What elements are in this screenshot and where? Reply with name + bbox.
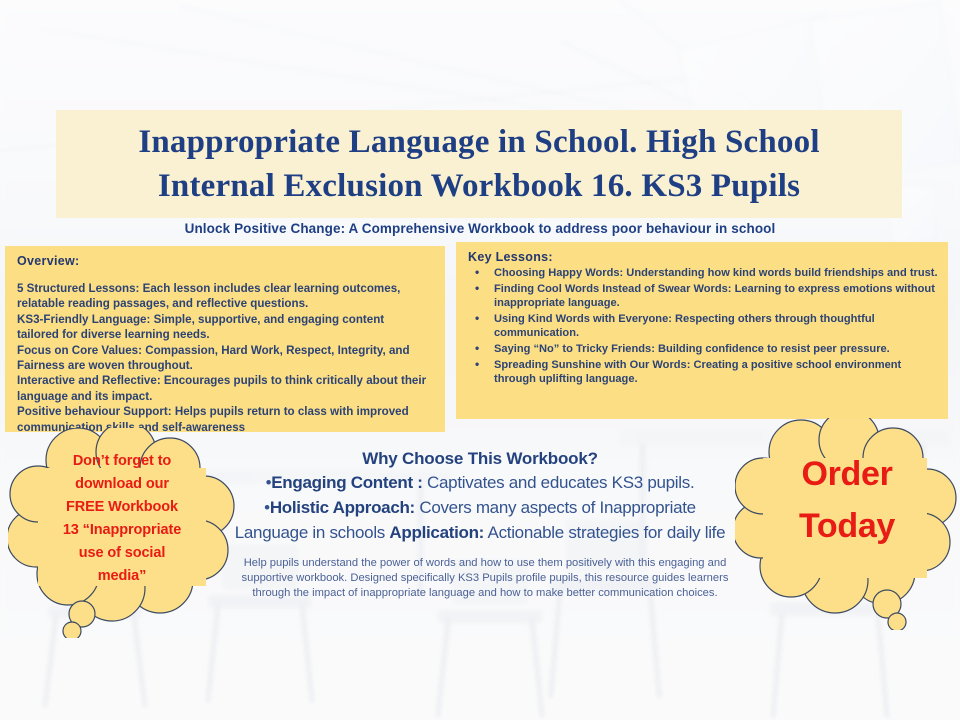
key-lessons-list: • Choosing Happy Words: Understanding ho… (468, 266, 938, 387)
page-title-line-1: Inappropriate Language in School. High S… (138, 120, 819, 164)
promo-line-label: Engaging Content : (271, 473, 422, 492)
list-item: • Saying “No” to Tricky Friends: Buildin… (468, 342, 938, 357)
list-item-label: Choosing Happy Words: Understanding how … (494, 267, 938, 279)
bubble-line: Order (759, 448, 935, 500)
overview-panel: Overview: 5 Structured Lessons: Each les… (5, 246, 445, 432)
list-item: • Finding Cool Words Instead of Swear Wo… (468, 282, 938, 311)
bubble-line: media” (34, 565, 210, 588)
overview-line: tailored for diverse learning needs. (17, 327, 435, 342)
promo-line-text: Captivates and educates KS3 pupils. (423, 473, 695, 492)
overview-line: Interactive and Reflective: Encourages p… (17, 373, 435, 388)
promo-line-text: Language in schools (235, 523, 390, 542)
promo-heading: Why Choose This Workbook? (150, 448, 810, 470)
promo-line-text: Actionable strategies for daily life (484, 523, 725, 542)
promo-line-text: Covers many aspects of Inappropriate (415, 498, 696, 517)
bullet-icon: • (475, 265, 479, 280)
bubble-line: Don’t forget to (34, 450, 210, 473)
overview-heading: Overview: (17, 254, 435, 268)
overview-list: 5 Structured Lessons: Each lesson includ… (17, 281, 435, 435)
title-banner: Inappropriate Language in School. High S… (56, 110, 902, 218)
overview-line: Focus on Core Values: Compassion, Hard W… (17, 343, 435, 358)
promo-line-label: Application: (389, 523, 484, 542)
list-item-label: Saying “No” to Tricky Friends: Building … (494, 343, 890, 355)
bubble-line: download our (34, 473, 210, 496)
bubble-line: use of social (34, 542, 210, 565)
bubble-line: Today (759, 500, 935, 552)
promo-line: •Holistic Approach: Covers many aspects … (150, 495, 810, 520)
promo-blurb: Help pupils understand the power of word… (225, 556, 745, 601)
promo-section: Why Choose This Workbook? •Engaging Cont… (150, 448, 810, 545)
list-item: • Choosing Happy Words: Understanding ho… (468, 266, 938, 281)
overview-line: Positive behaviour Support: Helps pupils… (17, 404, 435, 419)
promo-line: •Engaging Content : Captivates and educa… (150, 470, 810, 495)
page-subtitle: Unlock Positive Change: A Comprehensive … (0, 221, 960, 236)
page-title-line-2: Internal Exclusion Workbook 16. KS3 Pupi… (158, 164, 800, 208)
overview-line: relatable reading passages, and reflecti… (17, 296, 435, 311)
thought-bubble-left-text: Don’t forget to download our FREE Workbo… (34, 450, 210, 588)
thought-bubble-order-today[interactable]: Order Today (735, 418, 957, 630)
bullet-icon: • (475, 357, 479, 372)
overview-line: Fairness are woven throughout. (17, 358, 435, 373)
list-item-label: Finding Cool Words Instead of Swear Word… (494, 283, 935, 310)
key-lessons-heading: Key Lessons: (468, 250, 938, 264)
list-item-label: Spreading Sunshine with Our Words: Creat… (494, 359, 901, 386)
list-item-label: Using Kind Words with Everyone: Respecti… (494, 313, 875, 340)
thought-bubble-free-workbook[interactable]: Don’t forget to download our FREE Workbo… (8, 428, 236, 638)
list-item: • Spreading Sunshine with Our Words: Cre… (468, 358, 938, 387)
promo-line: Language in schools Application: Actiona… (150, 520, 810, 545)
promo-line-label: Holistic Approach: (270, 498, 415, 517)
bubble-line: 13 “Inappropriate (34, 519, 210, 542)
overview-line: KS3-Friendly Language: Simple, supportiv… (17, 312, 435, 327)
list-item: • Using Kind Words with Everyone: Respec… (468, 312, 938, 341)
overview-line: 5 Structured Lessons: Each lesson includ… (17, 281, 435, 296)
key-lessons-panel: Key Lessons: • Choosing Happy Words: Und… (456, 242, 948, 419)
thought-bubble-right-text: Order Today (759, 448, 935, 552)
overview-spacer (17, 270, 435, 281)
bullet-icon: • (475, 281, 479, 296)
bubble-line: FREE Workbook (34, 496, 210, 519)
overview-line: language and its impact. (17, 389, 435, 404)
bullet-icon: • (475, 311, 479, 326)
bullet-icon: • (475, 341, 479, 356)
